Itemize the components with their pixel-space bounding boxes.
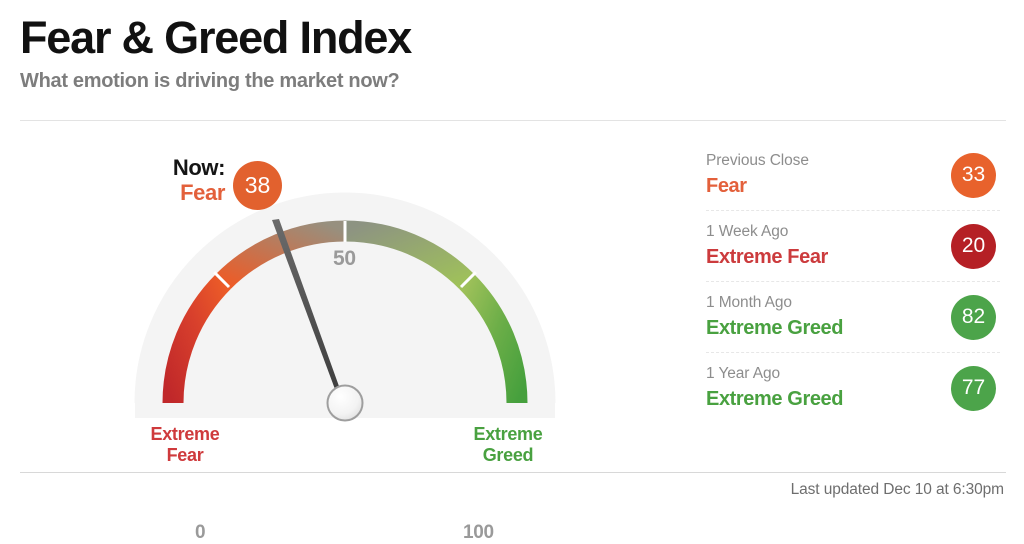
history-row-previous-close: Previous Close Fear 33	[706, 140, 1000, 210]
history-period: 1 Week Ago	[706, 223, 828, 242]
gauge-end-label-extreme-greed: Extreme Greed	[458, 424, 558, 465]
history-value-badge: 82	[951, 295, 996, 340]
page-subtitle: What emotion is driving the market now?	[20, 70, 720, 93]
history-period: 1 Year Ago	[706, 365, 843, 384]
gauge-end-label-extreme-fear-line1: Extreme	[151, 424, 220, 444]
last-updated-text: Last updated Dec 10 at 6:30pm	[791, 481, 1004, 499]
history-period: 1 Month Ago	[706, 294, 843, 313]
now-emotion: Fear	[155, 181, 225, 206]
fear-greed-index-widget: Fear & Greed Index What emotion is drivi…	[0, 0, 1024, 508]
history-row-text: 1 Week Ago Extreme Fear	[706, 223, 828, 269]
gauge-tick-label-100: 100	[463, 522, 494, 544]
history-row-1-year-ago: 1 Year Ago Extreme Greed 77	[706, 352, 1000, 423]
history-emotion: Extreme Greed	[706, 387, 843, 411]
now-word: Now:	[155, 156, 225, 181]
gauge-tick-label-50: 50	[333, 247, 356, 271]
header: Fear & Greed Index What emotion is drivi…	[20, 14, 720, 93]
history-period: Previous Close	[706, 152, 809, 171]
footer-divider	[20, 472, 1006, 473]
history-emotion: Extreme Greed	[706, 316, 843, 340]
history-row-text: 1 Month Ago Extreme Greed	[706, 294, 843, 340]
gauge-end-label-extreme-fear-line2: Fear	[167, 445, 204, 465]
gauge-end-label-extreme-fear: Extreme Fear	[135, 424, 235, 465]
history-row-1-week-ago: 1 Week Ago Extreme Fear 20	[706, 210, 1000, 281]
history-emotion: Extreme Fear	[706, 245, 828, 269]
history-value-badge: 20	[951, 224, 996, 269]
history-value-badge: 77	[951, 366, 996, 411]
history-row-text: Previous Close Fear	[706, 152, 809, 198]
gauge-end-label-extreme-greed-line2: Greed	[483, 445, 534, 465]
history-emotion: Fear	[706, 174, 809, 198]
header-divider	[20, 120, 1006, 121]
gauge-end-label-extreme-greed-line1: Extreme	[474, 424, 543, 444]
current-value-badge: 38	[233, 161, 282, 210]
gauge-dial	[0, 128, 690, 473]
history-list: Previous Close Fear 33 1 Week Ago Extrem…	[706, 140, 1000, 423]
history-row-1-month-ago: 1 Month Ago Extreme Greed 82	[706, 281, 1000, 352]
page-title: Fear & Greed Index	[20, 14, 720, 61]
gauge-tick-label-0: 0	[195, 522, 205, 544]
history-row-text: 1 Year Ago Extreme Greed	[706, 365, 843, 411]
now-label: Now: Fear	[155, 156, 225, 205]
gauge-hub	[328, 386, 363, 421]
history-value-badge: 33	[951, 153, 996, 198]
gauge-panel: Now: Fear 38 50 0 100 Extreme Fear Extre…	[0, 128, 690, 473]
